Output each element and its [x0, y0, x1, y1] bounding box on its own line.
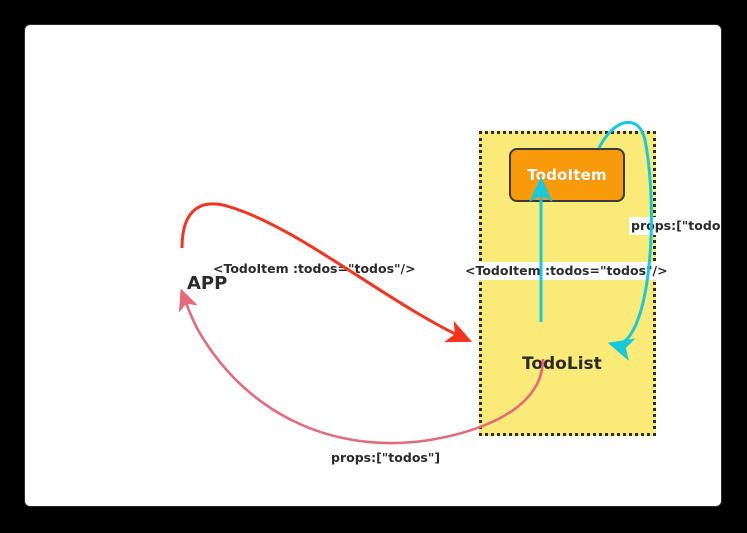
node-todoitem[interactable]: TodoItem — [509, 148, 625, 202]
node-todolist[interactable]: TodoList — [522, 354, 602, 374]
edge-label-props-right: props:["todos"] — [629, 217, 721, 235]
edge-label-todolist-to-todoitem: <TodoItem :todos="todos"/> — [463, 262, 670, 280]
edge-label-app-to-todolist: <TodoItem :todos="todos"/> — [211, 260, 418, 278]
edge-label-props-bottom: props:["todos"] — [329, 449, 442, 467]
diagram-canvas: TodoItem TodoList APP <TodoItem :todos="… — [25, 25, 721, 506]
node-todoitem-label: TodoItem — [527, 166, 607, 184]
diagram-stage: TodoItem TodoList APP <TodoItem :todos="… — [0, 0, 747, 533]
